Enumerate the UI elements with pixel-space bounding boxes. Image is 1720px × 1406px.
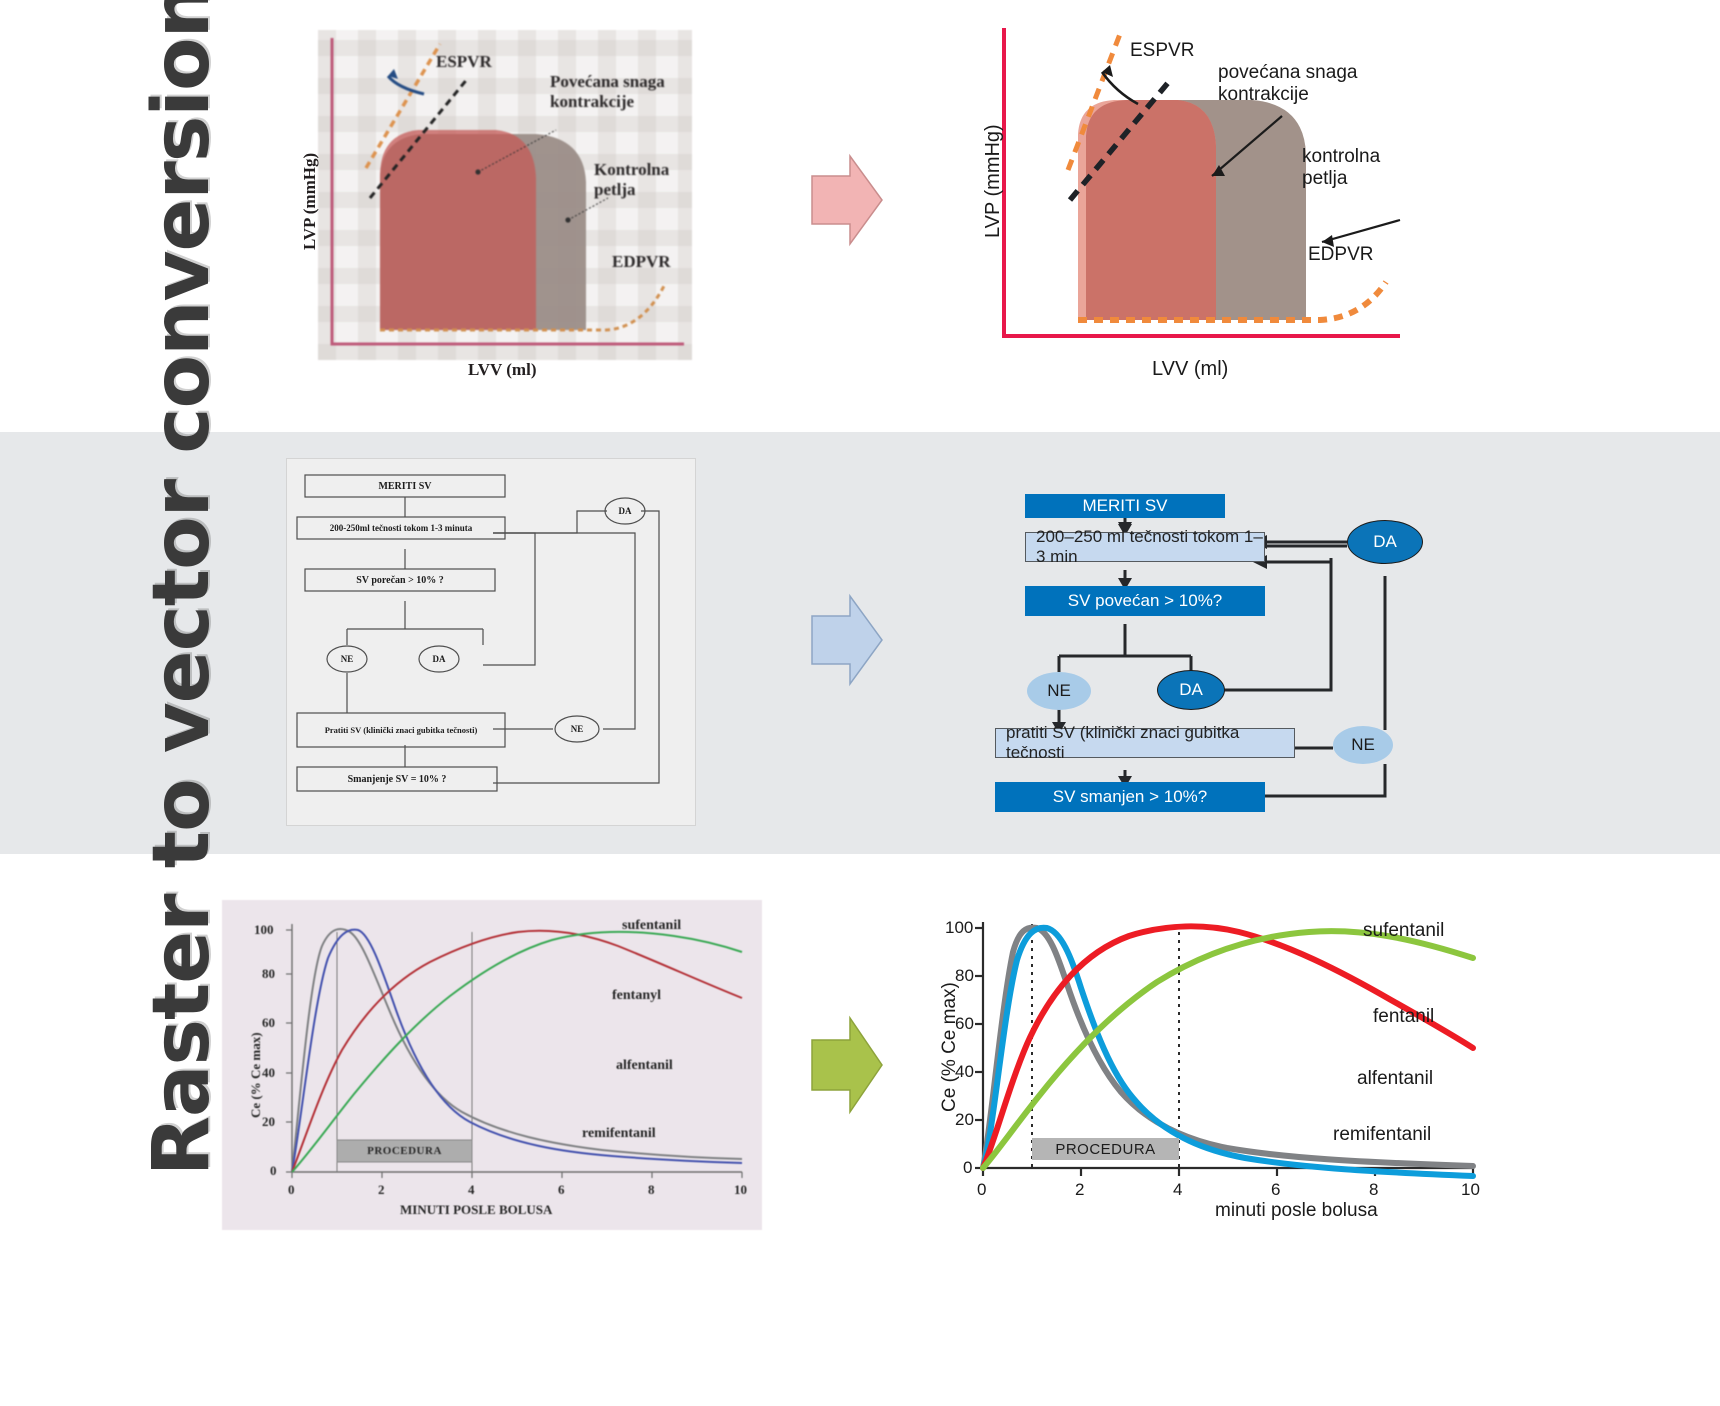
convert-arrow-row2 bbox=[806, 590, 886, 690]
raster-ce-xtick-4: 4 bbox=[468, 1182, 475, 1198]
vector-ce-label-remifentanil: remifentanil bbox=[1333, 1124, 1431, 1146]
vector-label-increased-contractility: povećana snaga kontrakcije bbox=[1218, 62, 1388, 106]
vector-ce-xtick-0: 0 bbox=[977, 1180, 986, 1200]
raster-label-edpvr: EDPVR bbox=[612, 252, 671, 272]
vector-ce-xtick-6: 6 bbox=[1271, 1180, 1280, 1200]
vector-ce-label-fentanil: fentanil bbox=[1373, 1006, 1434, 1028]
convert-arrow-row3 bbox=[806, 1010, 886, 1120]
vector-ce-ytick-20: 20 bbox=[955, 1110, 974, 1130]
raster-ce-label-sufentanil: sufentanil bbox=[622, 918, 681, 934]
raster-flow-box-5: Smanjenje SV = 10% ? bbox=[297, 767, 497, 791]
convert-arrow-row1 bbox=[806, 150, 886, 250]
raster-pv-y-axis-title: LVP (mmHg) bbox=[300, 153, 320, 250]
raster-ce-chart-image: 100 80 60 40 20 0 0 2 4 6 8 10 Ce (% Ce … bbox=[222, 900, 762, 1230]
vector-label-espvr: ESPVR bbox=[1130, 40, 1194, 62]
vector-ce-label-alfentanil: alfentanil bbox=[1357, 1068, 1433, 1090]
raster-ce-xtick-6: 6 bbox=[558, 1182, 565, 1198]
raster-ce-ytick-100: 100 bbox=[254, 922, 274, 938]
vector-flowchart-figure: MERITI SV 200–250 ml tečnosti tokom 1–3 … bbox=[955, 480, 1425, 820]
raster-flowchart-image: MERITI SV 200-250ml tečnosti tokom 1-3 m… bbox=[286, 458, 696, 826]
vector-label-edpvr: EDPVR bbox=[1308, 244, 1373, 266]
vector-flow-ellipse-ne-right: NE bbox=[1333, 726, 1393, 764]
raster-pv-x-axis-title: LVV (ml) bbox=[468, 360, 536, 380]
raster-ce-label-fentanyl: fentanyl bbox=[612, 988, 661, 1004]
raster-ce-xtick-8: 8 bbox=[648, 1182, 655, 1198]
raster-ce-label-alfentanil: alfentanil bbox=[616, 1058, 673, 1074]
vector-ce-xtick-8: 8 bbox=[1369, 1180, 1378, 1200]
vector-ce-ytick-0: 0 bbox=[963, 1158, 972, 1178]
vector-flow-box-sv-increase: SV povećan > 10%? bbox=[1025, 586, 1265, 616]
vector-label-control-loop: kontrolna petlja bbox=[1302, 146, 1412, 190]
vector-ce-ytick-100: 100 bbox=[945, 918, 973, 938]
vector-flow-box-meriti-sv: MERITI SV bbox=[1025, 494, 1225, 518]
raster-ce-procedure-bar-label: PROCEDURA bbox=[337, 1140, 472, 1162]
raster-flow-ellipse-4: NE bbox=[555, 716, 599, 742]
raster-ce-xtick-2: 2 bbox=[378, 1182, 385, 1198]
vector-flow-ellipse-ne-left: NE bbox=[1027, 672, 1091, 710]
raster-label-control-loop: Kontrolna petlja bbox=[594, 160, 694, 199]
raster-flow-ellipse-1: DA bbox=[605, 498, 645, 524]
vector-ce-chart-figure: 100 80 60 40 20 0 0 2 4 6 8 10 Ce (% Ce … bbox=[905, 900, 1505, 1230]
vector-ce-xtick-10: 10 bbox=[1461, 1180, 1480, 1200]
vector-flow-box-fluid-bolus: 200–250 ml tečnosti tokom 1–3 min bbox=[1025, 532, 1265, 562]
vector-ce-x-axis-title: minuti posle bolusa bbox=[1215, 1200, 1378, 1222]
raster-flow-box-2: 200-250ml tečnosti tokom 1-3 minuta bbox=[297, 517, 505, 539]
raster-ce-xtick-10: 10 bbox=[734, 1182, 747, 1198]
raster-ce-ytick-0: 0 bbox=[270, 1163, 277, 1179]
raster-ce-x-axis-title: MINUTI POSLE BOLUSA bbox=[400, 1202, 552, 1218]
vector-flow-ellipse-da-mid: DA bbox=[1157, 670, 1225, 710]
vector-flow-box-sv-decrease: SV smanjen > 10%? bbox=[995, 782, 1265, 812]
raster-ce-ytick-60: 60 bbox=[262, 1015, 275, 1031]
vector-pv-y-axis-title: LVP (mmHg) bbox=[982, 124, 1005, 238]
vector-ce-procedure-bar-label: PROCEDURA bbox=[1032, 1138, 1179, 1160]
vector-flow-box-monitor-sv: pratiti SV (klinički znaci gubitka tečno… bbox=[995, 728, 1295, 758]
vector-ce-xtick-4: 4 bbox=[1173, 1180, 1182, 1200]
vector-pv-loop-figure: ESPVR povećana snaga kontrakcije kontrol… bbox=[990, 20, 1410, 370]
raster-ce-xtick-0: 0 bbox=[288, 1182, 295, 1198]
raster-label-espvr: ESPVR bbox=[436, 52, 492, 72]
raster-ce-label-remifentanil: remifentanil bbox=[582, 1126, 656, 1142]
raster-flow-box-1: MERITI SV bbox=[305, 475, 505, 497]
vector-flow-ellipse-da-top: DA bbox=[1347, 520, 1423, 564]
vector-ce-label-sufentanil: sufentanil bbox=[1363, 920, 1444, 942]
vector-ce-xtick-2: 2 bbox=[1075, 1180, 1084, 1200]
vector-ce-y-axis-title: Ce (% Ce max) bbox=[939, 982, 961, 1112]
raster-pv-loop-image: ESPVR Povećana snaga kontrakcije Kontrol… bbox=[318, 30, 692, 360]
raster-ce-ytick-80: 80 bbox=[262, 966, 275, 982]
raster-ce-y-axis-title: Ce (% Ce max) bbox=[248, 1032, 264, 1118]
raster-flow-box-3: SV porečan > 10% ? bbox=[305, 569, 495, 591]
page-root: Raster to vector conversion bbox=[0, 0, 1720, 1406]
raster-flow-ellipse-2: NE bbox=[327, 646, 367, 672]
raster-flow-box-4: Pratiti SV (klinički znaci gubitka tečno… bbox=[297, 713, 505, 747]
raster-flow-ellipse-3: DA bbox=[419, 646, 459, 672]
vector-pv-x-axis-title: LVV (ml) bbox=[1152, 358, 1228, 381]
raster-label-increased-contractility: Povećana snaga kontrakcije bbox=[550, 72, 700, 111]
